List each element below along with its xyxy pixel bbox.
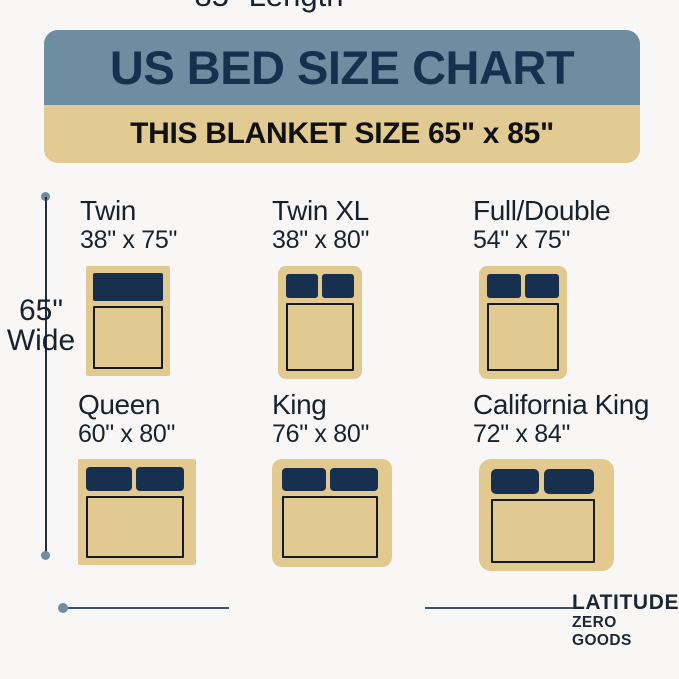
- bed-dimensions: 76" x 80": [272, 420, 392, 448]
- axis-endpoint-dot-bottom: [41, 551, 50, 560]
- bed-name: California King: [473, 390, 649, 420]
- mattress: [86, 496, 184, 558]
- pillow-right: [544, 469, 594, 494]
- pillow-left: [282, 468, 326, 491]
- bed-label-queen: Queen 60" x 80": [78, 390, 196, 448]
- horizontal-axis-line-left: [68, 607, 229, 609]
- pillow-left: [491, 469, 539, 494]
- axis-endpoint-dot-left: [58, 603, 68, 613]
- bed-name: Queen: [78, 390, 196, 420]
- bed-card-full-double: Full/Double 54" x 75": [473, 196, 610, 379]
- header-subtitle-bar: THIS BLANKET SIZE 65" x 85": [44, 105, 640, 163]
- bed-card-twin-xl: Twin XL 38" x 80": [272, 196, 369, 379]
- pillow: [93, 273, 163, 301]
- bed-card-queen: Queen 60" x 80": [78, 390, 196, 565]
- bed-label-twin: Twin 38" x 75": [80, 196, 177, 254]
- header-banner: US BED SIZE CHART THIS BLANKET SIZE 65" …: [44, 30, 640, 163]
- pillow-left: [487, 274, 521, 298]
- horizontal-axis-line-right: [425, 607, 577, 609]
- bed-figure-twin-xl: [278, 266, 362, 379]
- mattress: [282, 496, 378, 558]
- bed-dimensions: 60" x 80": [78, 420, 196, 448]
- vertical-axis-value: 65": [19, 294, 63, 327]
- pillow-right: [322, 274, 354, 298]
- brand-name-primary: LATITUDE: [572, 592, 679, 614]
- bed-label-full-double: Full/Double 54" x 75": [473, 196, 610, 254]
- bed-dimensions: 38" x 80": [272, 226, 369, 254]
- bed-card-california-king: California King 72" x 84": [473, 390, 649, 571]
- bed-dimensions: 38" x 75": [80, 226, 177, 254]
- bed-label-king: King 76" x 80": [272, 390, 392, 448]
- vertical-axis-label: 65" Wide: [4, 296, 78, 356]
- mattress: [487, 303, 559, 371]
- bed-figure-full-double: [479, 266, 567, 379]
- horizontal-axis-label: 85" Length: [176, 0, 362, 11]
- page-title: US BED SIZE CHART: [110, 44, 574, 91]
- bed-name: King: [272, 390, 392, 420]
- mattress: [93, 306, 163, 369]
- blanket-size-badge: THIS BLANKET SIZE 65" x 85": [130, 119, 554, 149]
- bed-figure-twin: [86, 266, 170, 376]
- mattress: [491, 499, 595, 563]
- mattress: [286, 303, 354, 371]
- pillow-right: [525, 274, 559, 298]
- horizontal-axis: [58, 603, 578, 613]
- vertical-axis-unit: Wide: [4, 326, 78, 356]
- bed-figure-king: [272, 459, 392, 567]
- vertical-axis: [41, 192, 50, 560]
- bed-dimensions: 72" x 84": [473, 420, 649, 448]
- bed-label-california-king: California King 72" x 84": [473, 390, 649, 448]
- pillow-right: [136, 467, 184, 491]
- bed-dimensions: 54" x 75": [473, 226, 610, 254]
- pillow-right: [330, 468, 378, 491]
- bed-name: Twin: [80, 196, 177, 226]
- bed-card-king: King 76" x 80": [272, 390, 392, 567]
- brand-logo: LATITUDE ZERO GOODS: [572, 592, 679, 650]
- pillow-left: [286, 274, 318, 298]
- bed-figure-queen: [78, 459, 196, 565]
- bed-card-twin: Twin 38" x 75": [80, 196, 177, 376]
- vertical-axis-line: [45, 197, 47, 555]
- bed-figure-california-king: [479, 459, 614, 571]
- bed-name: Twin XL: [272, 196, 369, 226]
- bed-label-twin-xl: Twin XL 38" x 80": [272, 196, 369, 254]
- brand-name-secondary: ZERO GOODS: [572, 614, 679, 650]
- pillow-left: [86, 467, 132, 491]
- header-title-bar: US BED SIZE CHART: [44, 30, 640, 105]
- bed-name: Full/Double: [473, 196, 610, 226]
